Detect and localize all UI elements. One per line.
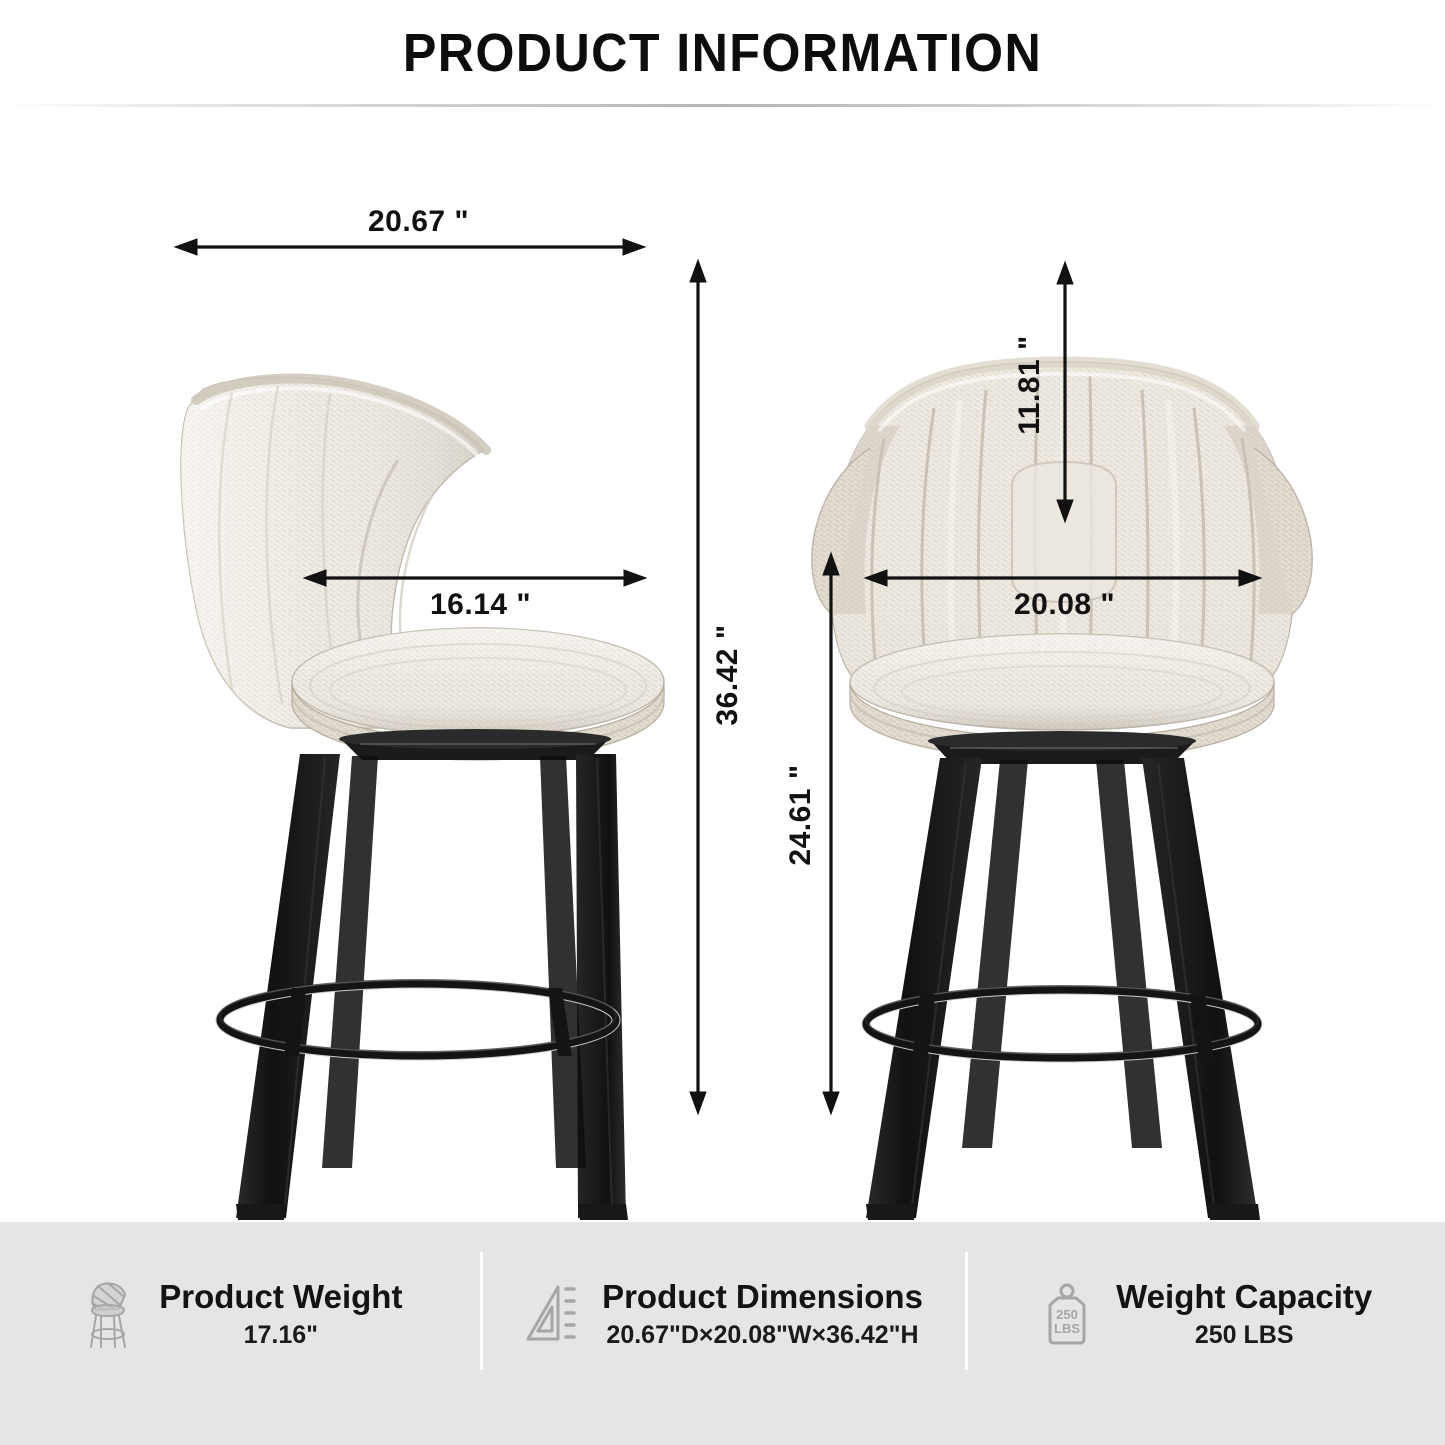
- weight-block-icon: 250 LBS: [1036, 1279, 1098, 1351]
- dimension-label-overall-depth: 20.67 ": [368, 205, 469, 239]
- dimension-label-overall-width: 20.08 ": [1014, 588, 1115, 622]
- info-value-product-dimensions: 20.67"D×20.08"W×36.42"H: [602, 1321, 923, 1350]
- bar-stool-icon: [79, 1279, 141, 1351]
- info-cell-product-dimensions: Product Dimensions 20.67"D×20.08"W×36.42…: [482, 1222, 964, 1445]
- side-view-stool: [181, 377, 664, 1220]
- dimension-label-backrest-height: 11.81 ": [1013, 320, 1047, 450]
- front-view-stool: [812, 348, 1312, 1220]
- info-title-product-dimensions: Product Dimensions: [602, 1279, 923, 1316]
- info-cell-product-weight: Product Weight 17.16": [0, 1222, 482, 1445]
- product-info-bar: Product Weight 17.16": [0, 1222, 1445, 1445]
- info-value-weight-capacity: 250 LBS: [1116, 1321, 1372, 1350]
- info-value-product-weight: 17.16": [159, 1321, 402, 1350]
- dimension-label-seat-depth: 16.14 ": [430, 588, 531, 622]
- ruler-triangle-icon: [522, 1279, 584, 1351]
- arrow-20-67: [175, 239, 645, 255]
- info-title-product-weight: Product Weight: [159, 1279, 402, 1316]
- weight-icon-value-bottom: LBS: [1054, 1321, 1080, 1336]
- header: PRODUCT INFORMATION: [0, 0, 1445, 108]
- product-diagram: 20.67 " 16.14 " 36.42 " 11.81 " 20.08 " …: [0, 108, 1445, 1222]
- weight-icon-value-top: 250: [1056, 1307, 1078, 1322]
- header-divider: [0, 104, 1445, 107]
- info-cell-weight-capacity: 250 LBS Weight Capacity 250 LBS: [963, 1222, 1445, 1445]
- dimension-label-overall-height: 36.42 ": [711, 610, 745, 740]
- arrow-36-42: [690, 260, 706, 1114]
- dimension-label-seat-height: 24.61 ": [784, 750, 818, 880]
- info-title-weight-capacity: Weight Capacity: [1116, 1279, 1372, 1316]
- page-title: PRODUCT INFORMATION: [51, 22, 1395, 84]
